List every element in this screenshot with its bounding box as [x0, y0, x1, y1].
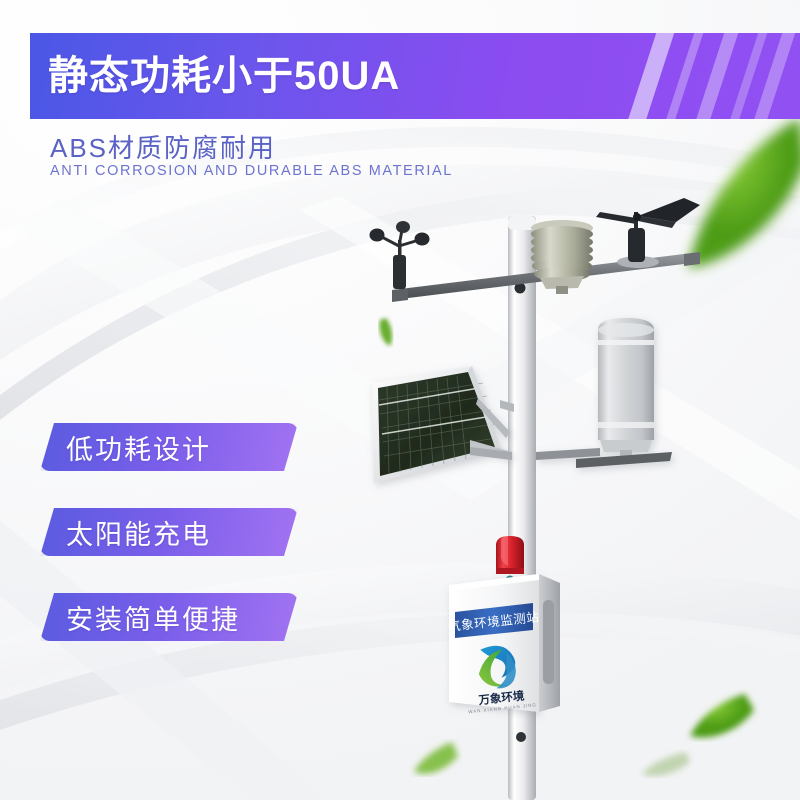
rain-gauge: [536, 318, 672, 468]
subtitle-chinese: ABS材质防腐耐用: [50, 128, 276, 165]
feature-pill-label: 安装简单便捷: [66, 598, 240, 637]
feature-pill-label: 太阳能充电: [66, 513, 211, 552]
subtitle-english: ANTI CORROSION AND DURABLE ABS MATERIAL: [50, 163, 453, 179]
feature-pill-label: 低功耗设计: [66, 428, 211, 467]
anemometer: [370, 221, 430, 289]
banner-title: 静态功耗小于50UA: [48, 46, 400, 106]
weather-station-illustration: 气象环境监测站 万象环境 WAN XIANG HUAN JING: [0, 0, 800, 800]
control-box: 气象环境监测站 万象环境 WAN XIANG HUAN JING: [447, 536, 560, 714]
feature-pill-easy-install: 安装简单便捷: [40, 593, 298, 641]
radiation-shield: [531, 220, 593, 294]
feature-pill-solar-charging: 太阳能充电: [40, 508, 298, 556]
solar-panel: [372, 366, 512, 483]
product-banner-image: 气象环境监测站 万象环境 WAN XIANG HUAN JING 静态功耗小于5…: [0, 0, 800, 800]
feature-pill-low-power: 低功耗设计: [40, 423, 298, 471]
mast-pole: [508, 216, 536, 800]
